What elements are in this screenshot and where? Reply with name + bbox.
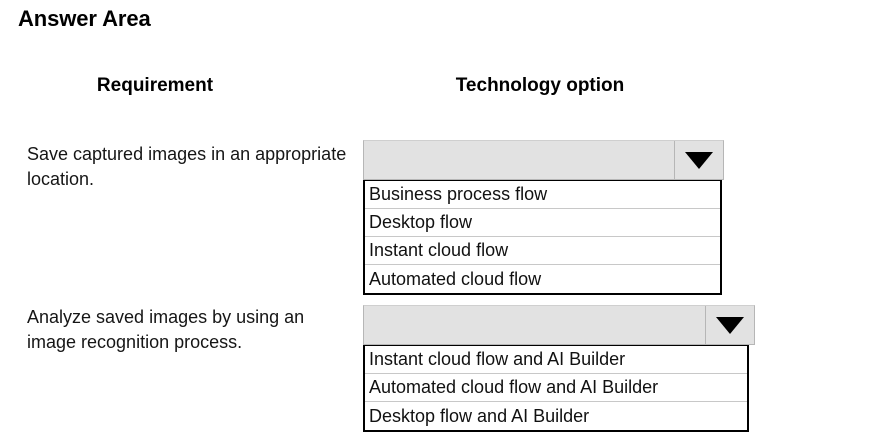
dropdown-option-list[interactable]: Instant cloud flow and AI Builder Automa… [363,344,749,432]
dropdown-toggle-button[interactable] [674,141,723,179]
dropdown-option[interactable]: Instant cloud flow and AI Builder [365,346,747,374]
column-header-requirement: Requirement [55,75,255,97]
technology-option-dropdown-1[interactable]: Instant cloud flow and AI Builder Automa… [363,305,755,432]
dropdown-combo-box[interactable] [363,305,755,345]
dropdown-option[interactable]: Automated cloud flow [365,265,720,293]
dropdown-selected-value [364,141,674,179]
dropdown-selected-value [364,306,705,344]
dropdown-option[interactable]: Business process flow [365,181,720,209]
dropdown-option[interactable]: Automated cloud flow and AI Builder [365,374,747,402]
dropdown-option-list[interactable]: Business process flow Desktop flow Insta… [363,179,722,295]
requirement-text: Save captured images in an appropriate l… [27,142,357,192]
requirement-text: Analyze saved images by using an image r… [27,305,357,355]
page-title: Answer Area [18,6,151,32]
column-header-technology-option: Technology option [430,75,650,97]
dropdown-option[interactable]: Desktop flow and AI Builder [365,402,747,430]
dropdown-combo-box[interactable] [363,140,724,180]
chevron-down-icon [716,317,744,334]
chevron-down-icon [685,152,713,169]
dropdown-toggle-button[interactable] [705,306,754,344]
dropdown-option[interactable]: Desktop flow [365,209,720,237]
technology-option-dropdown-0[interactable]: Business process flow Desktop flow Insta… [363,140,724,295]
dropdown-option[interactable]: Instant cloud flow [365,237,720,265]
